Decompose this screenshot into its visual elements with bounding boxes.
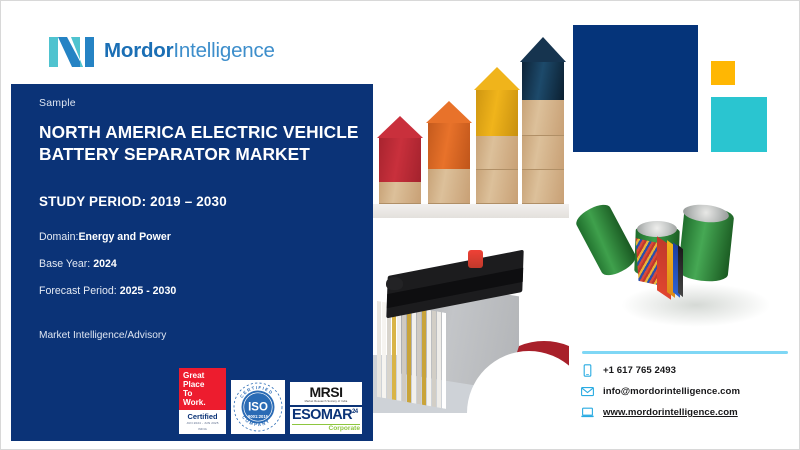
wood-block-1 bbox=[379, 182, 421, 204]
gptw-line-4: Work. bbox=[183, 398, 223, 407]
image-floor bbox=[373, 204, 569, 218]
wood-block-3b bbox=[476, 170, 518, 204]
mrsi-badge: MRSI Market Research Society of India bbox=[290, 382, 362, 405]
electrode-layer-dark bbox=[678, 245, 683, 297]
brand-name-bold: Mordor bbox=[104, 39, 173, 62]
battery-cells-image bbox=[569, 199, 800, 349]
battery-cell-middle-cap bbox=[637, 221, 677, 237]
contact-row-website[interactable]: www.mordorintelligence.com bbox=[581, 406, 740, 419]
certification-badges: Great Place To Work. Certified JUN 2024 … bbox=[179, 368, 362, 434]
roof-1 bbox=[377, 116, 423, 138]
block-house-4 bbox=[522, 37, 564, 204]
cover-info-panel: Sample NORTH AMERICA ELECTRIC VEHICLE BA… bbox=[11, 84, 373, 441]
wood-block-4c bbox=[522, 170, 564, 204]
phone-icon bbox=[581, 364, 594, 377]
wood-block-4b bbox=[522, 136, 564, 170]
contact-email-text: info@mordorintelligence.com bbox=[603, 386, 740, 397]
meta-key-domain: Domain: bbox=[39, 231, 78, 243]
roof-4 bbox=[520, 37, 566, 62]
meta-key-base-year: Base Year: bbox=[39, 258, 90, 270]
meta-row-forecast-period: Forecast Period: 2025 - 2030 bbox=[39, 285, 359, 297]
meta-value-domain: Energy and Power bbox=[78, 231, 170, 243]
brand-logo[interactable]: MordorIntelligence bbox=[49, 35, 275, 67]
svg-text:9001:2015: 9001:2015 bbox=[248, 414, 269, 419]
svg-text:ISO: ISO bbox=[248, 402, 268, 414]
meta-key-forecast-period: Forecast Period: bbox=[39, 285, 117, 297]
body-1 bbox=[379, 138, 421, 182]
wood-block-4a bbox=[522, 100, 564, 136]
sample-label: Sample bbox=[39, 97, 76, 109]
roof-3 bbox=[474, 67, 520, 90]
gptw-line-1: Great bbox=[183, 371, 223, 380]
block-house-2 bbox=[428, 101, 470, 204]
decor-block-teal bbox=[711, 97, 767, 152]
decor-block-orange bbox=[711, 61, 735, 85]
mrsi-wordmark: MRSI bbox=[292, 385, 360, 399]
roof-2 bbox=[426, 101, 472, 123]
contact-row-email[interactable]: info@mordorintelligence.com bbox=[581, 385, 740, 398]
laptop-icon bbox=[581, 406, 594, 419]
meta-row-base-year: Base Year: 2024 bbox=[39, 258, 359, 270]
esomar-corporate-label: Corporate bbox=[292, 425, 360, 432]
car-battery-cutaway-image bbox=[373, 233, 569, 441]
esomar-wordmark: ESOMAR24 bbox=[292, 408, 360, 423]
mordor-m-logo-icon bbox=[49, 35, 95, 67]
battery-negative-terminal bbox=[386, 277, 403, 290]
gptw-subtext-2: INDIA bbox=[179, 428, 226, 434]
meta-value-base-year: 2024 bbox=[93, 258, 117, 270]
esomar-badge: ESOMAR24 Corporate bbox=[290, 407, 362, 434]
block-house-1 bbox=[379, 116, 421, 204]
body-4 bbox=[522, 62, 564, 100]
meta-row-domain: Domain:Energy and Power bbox=[39, 231, 359, 243]
body-3 bbox=[476, 90, 518, 136]
contact-row-phone[interactable]: +1 617 765 2493 bbox=[581, 364, 740, 377]
contact-divider bbox=[582, 351, 788, 354]
wood-block-3a bbox=[476, 136, 518, 170]
meta-value-forecast-period: 2025 - 2030 bbox=[120, 285, 177, 297]
mrsi-esomar-badges: MRSI Market Research Society of India ES… bbox=[290, 382, 362, 434]
iso-certification-badge: CERTIFIED COMPANY ISO 9001:2015 bbox=[231, 380, 285, 434]
wood-block-2 bbox=[428, 169, 470, 204]
gptw-line-3: To bbox=[183, 389, 223, 398]
esomar-superscript: 24 bbox=[352, 409, 357, 415]
brand-name-light: Intelligence bbox=[173, 39, 274, 62]
marketing-cover-page: MordorIntelligence bbox=[0, 0, 800, 450]
block-house-3 bbox=[476, 67, 518, 204]
gptw-line-2: Place bbox=[183, 380, 223, 389]
contact-phone-text: +1 617 765 2493 bbox=[603, 365, 676, 376]
wooden-blocks-growth-image bbox=[373, 2, 569, 224]
esomar-word-text: ESOMAR bbox=[292, 407, 352, 423]
brand-wordmark: MordorIntelligence bbox=[104, 41, 275, 62]
cells-shadow bbox=[621, 283, 771, 327]
envelope-icon bbox=[581, 385, 594, 398]
gptw-text: Great Place To Work. bbox=[179, 368, 226, 411]
contact-info: +1 617 765 2493 info@mordorintelligence.… bbox=[581, 364, 740, 427]
advisory-label: Market Intelligence/Advisory bbox=[39, 330, 166, 341]
mrsi-subtext: Market Research Society of India bbox=[292, 400, 360, 403]
report-meta-list: Domain:Energy and Power Base Year: 2024 … bbox=[39, 231, 359, 312]
battery-positive-terminal bbox=[468, 250, 483, 268]
study-period: STUDY PERIOD: 2019 – 2030 bbox=[39, 194, 227, 209]
iso-seal-icon: CERTIFIED COMPANY ISO 9001:2015 bbox=[232, 381, 284, 433]
battery-cell-left bbox=[573, 200, 639, 280]
report-title: NORTH AMERICA ELECTRIC VEHICLE BATTERY S… bbox=[39, 121, 359, 166]
decor-block-navy bbox=[573, 25, 698, 152]
contact-website-text: www.mordorintelligence.com bbox=[603, 407, 738, 418]
great-place-to-work-badge: Great Place To Work. Certified JUN 2024 … bbox=[179, 368, 226, 434]
body-2 bbox=[428, 123, 470, 169]
